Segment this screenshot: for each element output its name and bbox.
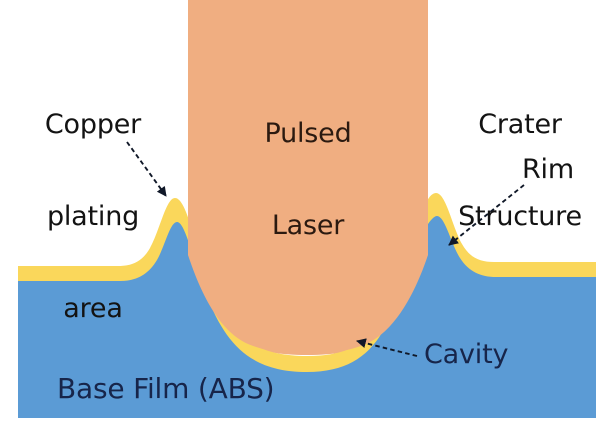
label-rim: Rim xyxy=(522,155,574,186)
label-copper-plating-area-line3: area xyxy=(18,294,168,325)
label-pulsed-laser-line1: Pulsed xyxy=(213,119,403,150)
label-crater-structure-line1: Crater xyxy=(432,110,608,141)
label-copper-plating-area-line1: Copper xyxy=(18,110,168,141)
label-crater-structure: Crater Structure xyxy=(432,48,608,294)
label-crater-structure-line2: Structure xyxy=(432,202,608,233)
label-base-film: Base Film (ABS) xyxy=(57,373,274,405)
label-copper-plating-area-line2: plating xyxy=(18,202,168,233)
label-pulsed-laser: Pulsed Laser xyxy=(213,57,403,303)
label-pulsed-laser-line2: Laser xyxy=(213,211,403,242)
label-cavity: Cavity xyxy=(424,340,508,371)
label-copper-plating-area: Copper plating area xyxy=(18,48,168,386)
laser-crater-diagram: Copper plating area Pulsed Laser Crater … xyxy=(0,0,614,426)
